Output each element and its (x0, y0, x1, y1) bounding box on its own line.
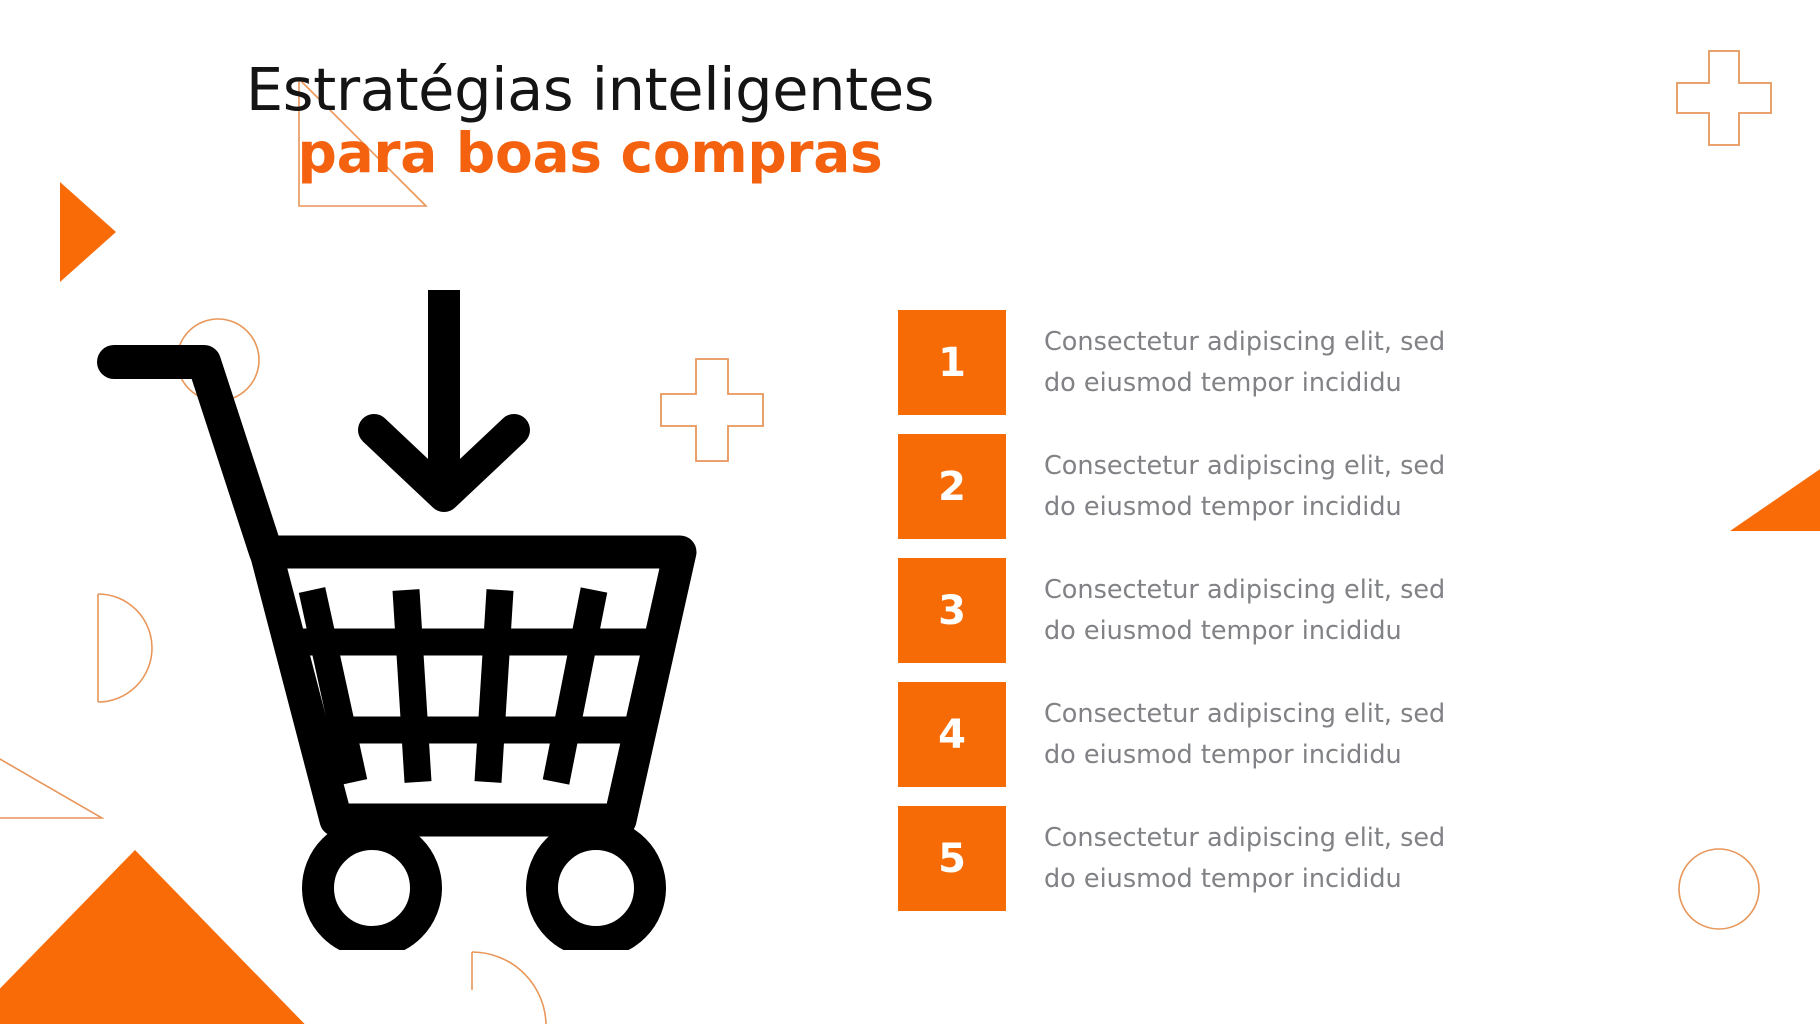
triangle-solid-right-icon (1730, 465, 1820, 531)
list-item[interactable]: 1 Consectetur adipiscing elit, sed do ei… (898, 310, 1538, 415)
triangle-right-solid-icon (60, 182, 116, 282)
slide-title: Estratégias inteligentes para boas compr… (0, 58, 1180, 186)
circle-outline-bottom-right-icon (1678, 848, 1760, 930)
title-line-2: para boas compras (0, 121, 1180, 186)
list-item[interactable]: 3 Consectetur adipiscing elit, sed do ei… (898, 558, 1538, 663)
list-item[interactable]: 4 Consectetur adipiscing elit, sed do ei… (898, 682, 1538, 787)
list-item[interactable]: 5 Consectetur adipiscing elit, sed do ei… (898, 806, 1538, 911)
plus-outline-top-right-icon (1676, 50, 1772, 146)
list-item-number-badge: 4 (898, 682, 1006, 787)
list-item-text: Consectetur adipiscing elit, sed do eius… (1044, 322, 1484, 403)
list-item-text: Consectetur adipiscing elit, sed do eius… (1044, 818, 1484, 899)
slide-canvas: Estratégias inteligentes para boas compr… (0, 0, 1820, 1024)
list-item[interactable]: 2 Consectetur adipiscing elit, sed do ei… (898, 434, 1538, 539)
triangle-outline-bottom-left-icon (0, 690, 104, 820)
arc-outline-bottom-icon (470, 950, 560, 1024)
list-item-text: Consectetur adipiscing elit, sed do eius… (1044, 446, 1484, 527)
list-item-number-badge: 5 (898, 806, 1006, 911)
list-item-text: Consectetur adipiscing elit, sed do eius… (1044, 694, 1484, 775)
shopping-cart-icon (96, 290, 756, 950)
numbered-list: 1 Consectetur adipiscing elit, sed do ei… (898, 310, 1538, 911)
list-item-number-badge: 1 (898, 310, 1006, 415)
list-item-number-badge: 2 (898, 434, 1006, 539)
list-item-number-badge: 3 (898, 558, 1006, 663)
title-line-1: Estratégias inteligentes (0, 58, 1180, 121)
list-item-text: Consectetur adipiscing elit, sed do eius… (1044, 570, 1484, 651)
